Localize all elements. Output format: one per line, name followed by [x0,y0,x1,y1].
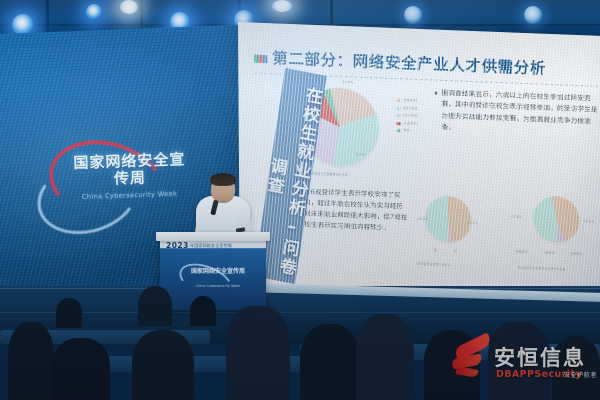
projection-screen: 第二部分：网络安全产业人才供需分析 20.6% 33.9% 28.9% 11.1… [238,22,600,304]
stage-light-white [120,0,138,14]
pie-label: 20.6% [342,80,353,84]
podium-subtitle: 年国家网络安全宣传周 [190,243,232,249]
legend-swatch [397,129,401,132]
audience-member [132,330,194,400]
podium-logo: 国家网络安全宣传周 China Cybersecurity Week [176,262,250,296]
slide-bullet-secondary: 近6成受访学生表示学校安排了实习，超过半数在校生认为实习经历对未来就业帮助很大影… [297,186,409,234]
stage-light [404,6,422,24]
legend-swatch [397,122,401,125]
podium-logo-en: China Cybersecurity Week [190,284,246,288]
legend-swatch [397,114,401,117]
conference-photo: 国家网络安全宣传周 China Cybersecurity Week 第二部分：… [0,0,600,400]
legend-item: 经常参加 [396,98,417,104]
watermark-brand-zh: 安恒信息 [494,342,586,372]
small-pie-label: 52.2% [583,219,594,223]
small-pie-legend: 帮助很大 [516,249,529,255]
pie-chart-internship-impact [533,195,579,243]
stage-light [86,4,102,20]
audience-member [56,298,82,328]
legend-item: 很少参加 [397,113,418,119]
pie-label: 33.9% [355,152,366,156]
small-pie-legend: 是 [434,248,437,253]
slide-bullet-main: 据调查结果显示，六成以上的在校生参加过网安竞赛，其中的受访在校生表示经常参加。的… [434,88,600,140]
legend-swatch [396,99,400,102]
stage-light-white [272,0,292,12]
watermark-swoosh-icon [455,366,478,378]
legend-label: 经常参加 [403,98,417,104]
small-pie-label: 48.9% [417,217,428,221]
slide-bullet-marker-icon [254,55,267,64]
logo-title-zh: 国家网络安全宣传周 [71,151,188,189]
audience-member [8,322,54,400]
small-pie-caption: 实习经历对未来就业的影响程度 [518,265,566,272]
watermark-brand-tagline: 安全护航者 [564,370,597,379]
audience-member [138,286,172,326]
audience-member [190,296,216,326]
podium-year: 2023 [166,241,189,250]
bullet-dot-icon [434,92,437,95]
pie-chart-internship [425,195,471,243]
audience-member [300,324,360,400]
legend-item: 其他 [397,128,418,134]
audience-member [356,314,414,400]
podium-top [156,232,270,241]
speaker-hair [210,173,236,186]
audience-member [52,338,110,400]
bullet-main-text: 据调查结果显示，六成以上的在校生参加过网安竞赛，其中的受访在校生表示经常参加。的… [441,88,600,140]
legend-label: 其他 [403,129,410,134]
legend-label: 从未参加 [403,121,417,127]
legend-item: 偶尔参加 [397,106,418,112]
podium-logo-zh: 国家网络安全宣传周 [190,268,246,276]
watermark-logo: 安恒信息 DBAPPSecurity 安全护航者 [452,336,598,394]
small-pie-legend: 一般影响 [542,250,555,256]
small-pie-label: 51.1% [467,221,478,225]
bullet-secondary-text: 近6成受访学生表示学校安排了实习，超过半数在校生认为实习经历对未来就业帮助很大影… [304,187,409,235]
stage-light [524,6,542,24]
audience-member [226,306,290,400]
legend-item: 从未参加 [397,121,418,127]
legend-swatch [397,107,401,110]
small-pie-legend: 没有影响 [569,251,582,257]
cybersecurity-week-logo: 国家网络安全宣传周 China Cybersecurity Week [27,137,188,220]
legend-label: 很少参加 [403,114,417,120]
small-pie-label: 47.8% [511,215,522,219]
legend-label: 偶尔参加 [403,106,417,112]
small-pie-legend: 否 [454,248,457,253]
small-pie-caption: 学校是否安排实习情况 [416,261,450,267]
pie-legend: 经常参加 偶尔参加 很少参加 从未参加 其他 [396,98,417,137]
